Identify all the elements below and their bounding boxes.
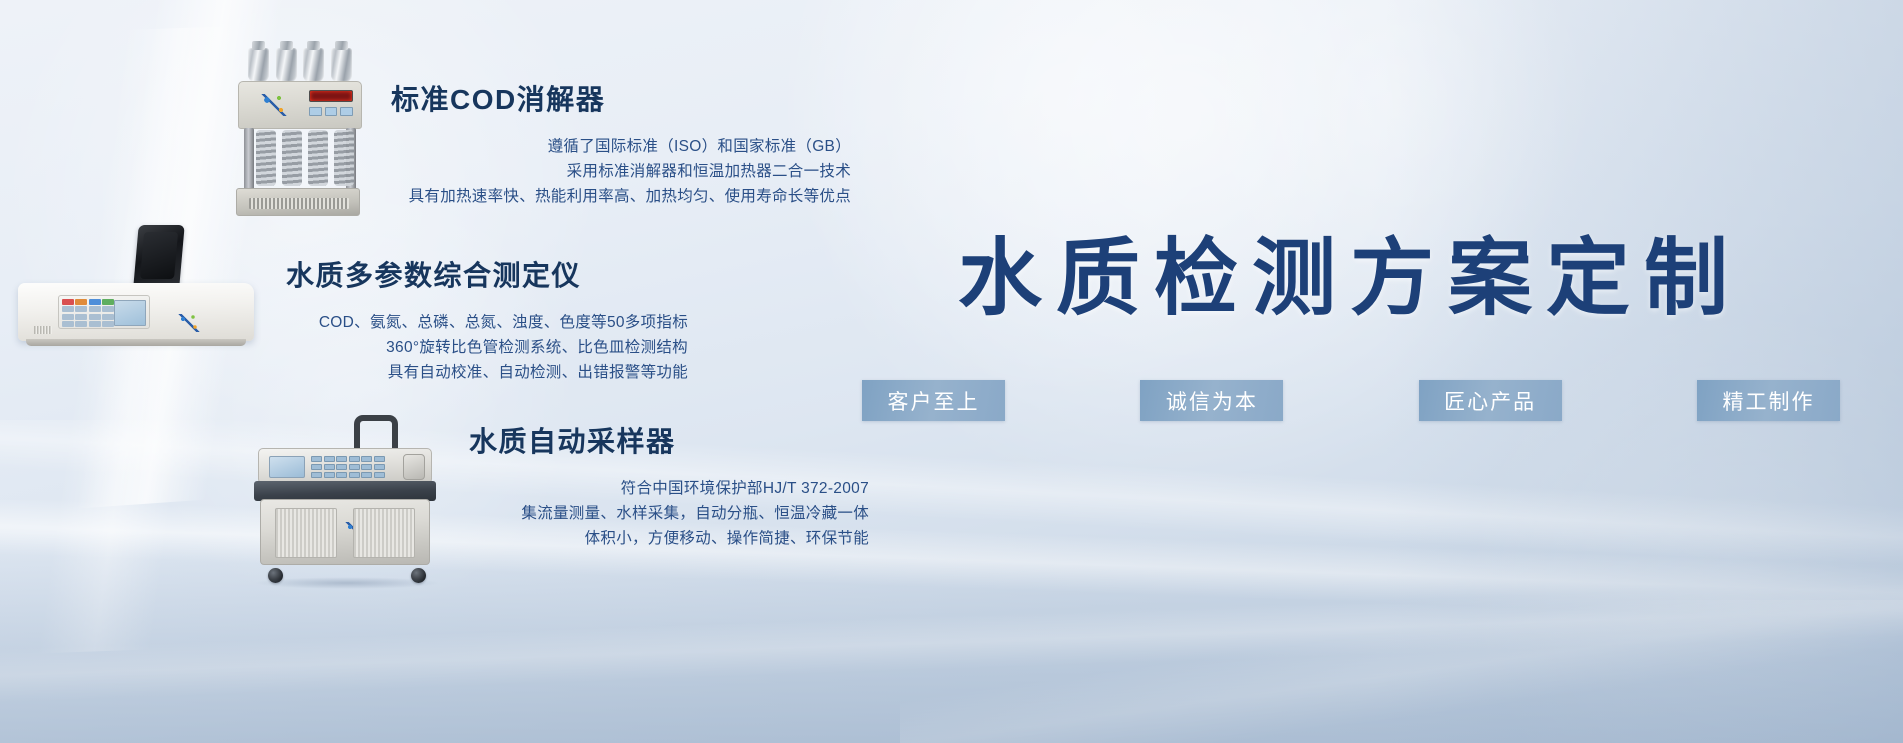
drop-shadow — [254, 577, 440, 589]
product-title: 标准COD消解器 — [391, 78, 851, 118]
analyzer-sample-lid — [133, 225, 184, 287]
product-block-multiparameter-analyzer: 水质多参数综合测定仪 COD、氨氮、总磷、总氮、浊度、色度等50多项指标 360… — [286, 254, 688, 385]
sampler-control-top — [258, 448, 432, 484]
slogan-badge-customer-first[interactable]: 客户至上 — [862, 380, 1005, 421]
control-buttons — [309, 107, 353, 116]
digestion-tube — [331, 48, 352, 82]
digestion-tube — [276, 48, 297, 82]
product-description: COD、氨氮、总磷、总氮、浊度、色度等50多项指标 360°旋转比色管检测系统、… — [286, 310, 688, 385]
keypad — [311, 456, 385, 478]
sampler-refrigerated-cabinet — [260, 499, 430, 565]
digester-heater-base — [236, 188, 360, 216]
product-title: 水质自动采样器 — [469, 420, 869, 460]
analyzer-base — [26, 339, 246, 346]
automatic-water-sampler-photo — [254, 415, 440, 583]
brand-logo-icon — [261, 94, 287, 116]
keypad — [62, 299, 114, 327]
vent-grille — [249, 198, 349, 209]
product-title: 水质多参数综合测定仪 — [286, 254, 688, 294]
slogan-badge-integrity[interactable]: 诚信为本 — [1140, 380, 1283, 421]
slogan-badge-fine-workmanship[interactable]: 精工制作 — [1697, 380, 1840, 421]
vent-grille — [34, 326, 52, 334]
product-desc-line: 符合中国环境保护部HJ/T 372-2007 — [469, 476, 869, 501]
analyzer-body — [18, 283, 254, 341]
banner-headline: 水质检测方案定制 — [860, 236, 1840, 320]
product-block-automatic-sampler: 水质自动采样器 符合中国环境保护部HJ/T 372-2007 集流量测量、水样采… — [469, 420, 869, 551]
slogan-badge-row: 客户至上 诚信为本 匠心产品 精工制作 — [862, 380, 1840, 421]
digestion-tube — [248, 48, 269, 82]
condenser-coil — [256, 130, 276, 186]
lcd-screen — [269, 456, 305, 478]
support-post — [244, 128, 254, 190]
condenser-coil — [334, 130, 354, 186]
product-desc-line: 采用标准消解器和恒温加热器二合一技术 — [391, 159, 851, 184]
water-quality-solution-banner: 标准COD消解器 遵循了国际标准（ISO）和国家标准（GB） 采用标准消解器和恒… — [0, 0, 1903, 743]
product-desc-line: 具有自动校准、自动检测、出错报警等功能 — [286, 360, 688, 385]
digester-condenser-body — [250, 128, 350, 190]
vent-grille-left — [275, 508, 337, 558]
product-desc-line: 集流量测量、水样采集，自动分瓶、恒温冷藏一体 — [469, 501, 869, 526]
analyzer-control-panel — [58, 295, 150, 329]
vent-grille-right — [353, 508, 415, 558]
condenser-coil — [308, 130, 328, 186]
product-desc-line: COD、氨氮、总磷、总氮、浊度、色度等50多项指标 — [286, 310, 688, 335]
sampler-upper-shell — [254, 481, 436, 501]
condenser-coil — [282, 130, 302, 186]
cod-digester-photo — [232, 48, 364, 218]
led-display — [309, 90, 353, 102]
product-desc-line: 体积小，方便移动、操作简捷、环保节能 — [469, 526, 869, 551]
digestion-tube — [303, 48, 324, 82]
product-desc-line: 具有加热速率快、热能利用率高、加热均匀、使用寿命长等优点 — [391, 184, 851, 209]
digestion-tubes — [248, 48, 352, 82]
digester-control-head — [238, 81, 362, 129]
peristaltic-pump — [403, 454, 425, 480]
product-description: 遵循了国际标准（ISO）和国家标准（GB） 采用标准消解器和恒温加热器二合一技术… — [391, 134, 851, 209]
brand-logo-icon — [178, 314, 200, 332]
product-desc-line: 360°旋转比色管检测系统、比色皿检测结构 — [286, 335, 688, 360]
product-desc-line: 遵循了国际标准（ISO）和国家标准（GB） — [391, 134, 851, 159]
product-description: 符合中国环境保护部HJ/T 372-2007 集流量测量、水样采集，自动分瓶、恒… — [469, 476, 869, 551]
multiparameter-analyzer-photo — [18, 225, 258, 350]
background-right-shade — [1383, 0, 1903, 743]
lcd-screen — [114, 300, 146, 326]
background-glow-circle-top — [760, 0, 1380, 410]
product-block-cod-digester: 标准COD消解器 遵循了国际标准（ISO）和国家标准（GB） 采用标准消解器和恒… — [391, 78, 851, 209]
slogan-badge-craftsmanship[interactable]: 匠心产品 — [1419, 380, 1562, 421]
